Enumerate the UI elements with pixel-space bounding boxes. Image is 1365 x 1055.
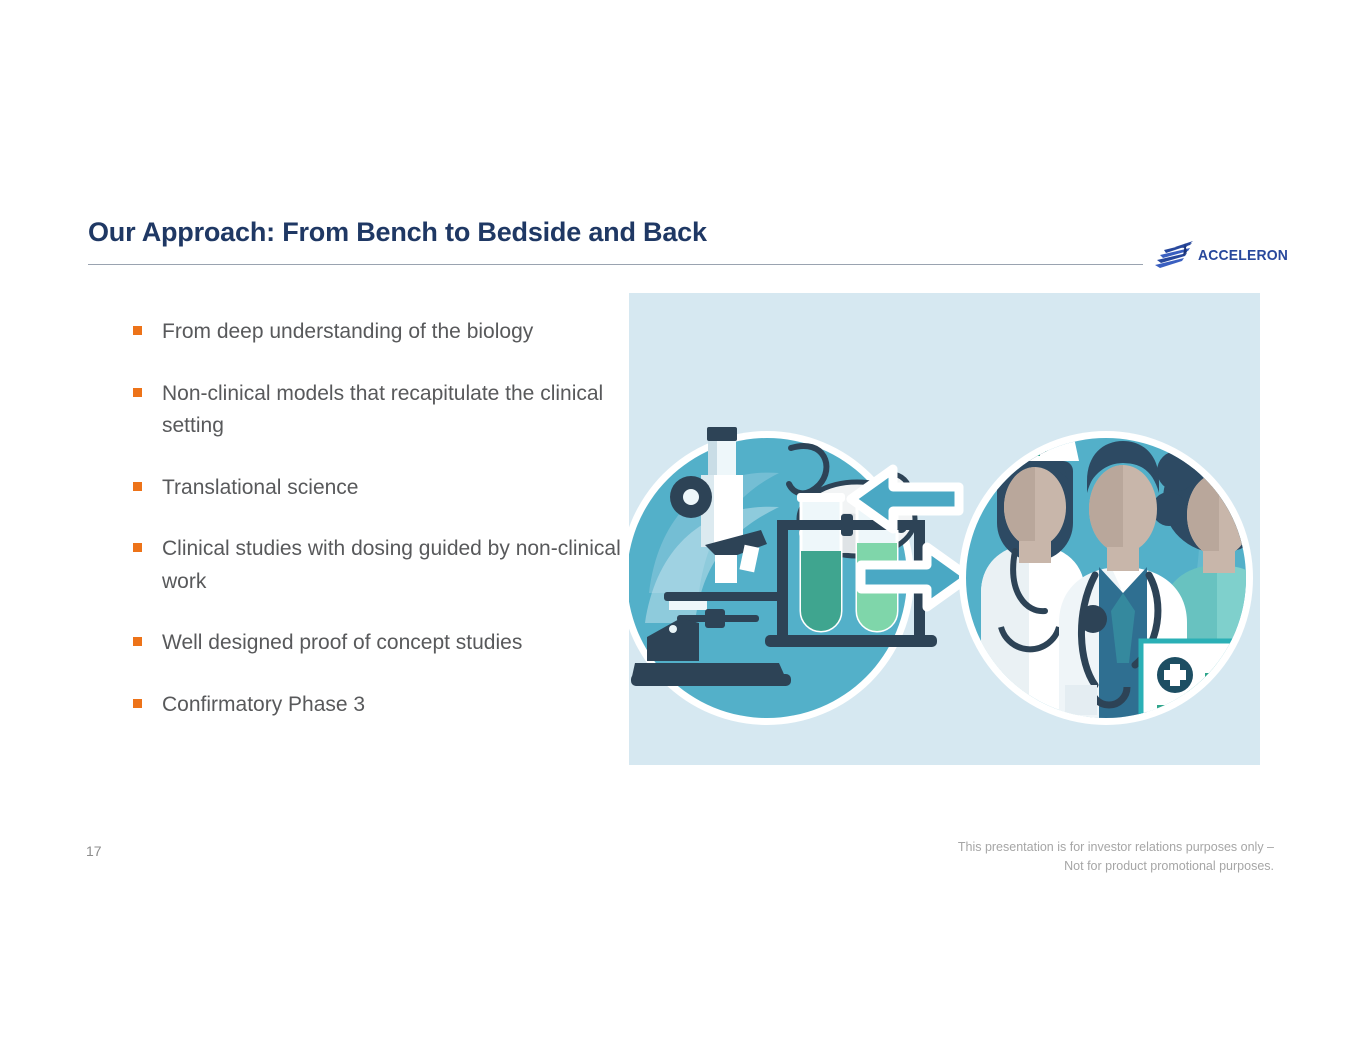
acceleron-swoosh-icon [1152,240,1196,270]
title-divider [88,264,1143,265]
list-item-label: From deep understanding of the biology [162,316,533,349]
disclaimer-note: This presentation is for investor relati… [958,838,1274,877]
bullet-square-icon [133,388,142,397]
list-item-label: Confirmatory Phase 3 [162,689,365,722]
list-item: Translational science [133,472,633,505]
bullet-square-icon [133,543,142,552]
acceleron-logo: ACCELERON [1152,239,1280,271]
list-item: From deep understanding of the biology [133,316,633,349]
list-item: Well designed proof of concept studies [133,627,633,660]
list-item-label: Clinical studies with dosing guided by n… [162,533,622,598]
disclaimer-line-1: This presentation is for investor relati… [958,838,1274,857]
bullet-list: From deep understanding of the biology N… [133,316,633,721]
bullet-square-icon [133,637,142,646]
list-item: Confirmatory Phase 3 [133,689,633,722]
list-item: Non-clinical models that recapitulate th… [133,378,633,443]
list-item-label: Non-clinical models that recapitulate th… [162,378,622,443]
bullet-square-icon [133,699,142,708]
bench-to-bedside-illustration [629,293,1260,765]
acceleron-wordmark: ACCELERON [1198,248,1288,263]
bullet-square-icon [133,326,142,335]
disclaimer-line-2: Not for product promotional purposes. [958,857,1274,876]
list-item-label: Well designed proof of concept studies [162,627,522,660]
page-title-block: Our Approach: From Bench to Bedside and … [88,218,1278,248]
list-item-label: Translational science [162,472,359,505]
page-number: 17 [86,843,102,859]
bullet-square-icon [133,482,142,491]
list-item: Clinical studies with dosing guided by n… [133,533,633,598]
page-title: Our Approach: From Bench to Bedside and … [88,218,1278,248]
slide-canvas: Our Approach: From Bench to Bedside and … [0,0,1365,1055]
